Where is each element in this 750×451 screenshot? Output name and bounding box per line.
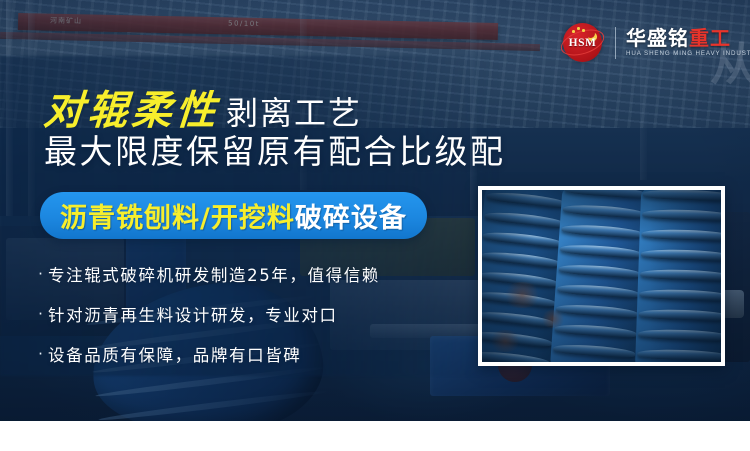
list-item-label: 设备品质有保障，品牌有口皆碑 [48,342,301,366]
logo-divider [615,27,616,59]
list-item: · 针对沥青再生料设计研发，专业对口 [36,302,380,326]
promo-banner: 河南矿山 50/10t 从 [0,0,750,421]
bullet-marker-icon: · [36,347,45,362]
bullet-marker-icon: · [36,307,45,322]
headline-line-2: 最大限度保留原有配合比级配 [44,125,506,173]
list-item: · 设备品质有保障，品牌有口皆碑 [36,342,380,366]
bullet-marker-icon: · [36,267,45,282]
selling-point-list: · 专注辊式破碎机研发制造25年，值得信赖 · 针对沥青再生料设计研发，专业对口… [36,262,380,382]
product-photo-card[interactable] [478,186,725,366]
product-photo-image [482,190,721,362]
hsm-logo-icon: HSM [560,20,605,65]
logo-company-name-en: HUA SHENG MING HEAVY INDUSTRY [626,51,750,57]
brand-logo[interactable]: HSM 华盛铭重工 HUA SHENG MING HEAVY INDUSTRY [560,20,750,65]
hsm-monogram: HSM [560,37,605,49]
list-item: · 专注辊式破碎机研发制造25年，值得信赖 [36,262,380,286]
photo-shading [482,190,721,362]
logo-company-name-cn: 华盛铭重工 [626,28,750,48]
list-item-label: 专注辊式破碎机研发制造25年，值得信赖 [48,262,380,286]
logo-name-white: 华盛铭 [626,26,689,50]
logo-name-red: 重工 [689,26,731,50]
badge-highlight-text: 沥青铣刨料/开挖料 [60,196,295,235]
badge-rest-text: 破碎设备 [295,196,407,235]
logo-wordmark: 华盛铭重工 HUA SHENG MING HEAVY INDUSTRY [626,28,750,57]
list-item-label: 针对沥青再生料设计研发，专业对口 [48,302,338,326]
product-category-badge[interactable]: 沥青铣刨料/开挖料 破碎设备 [40,192,427,239]
